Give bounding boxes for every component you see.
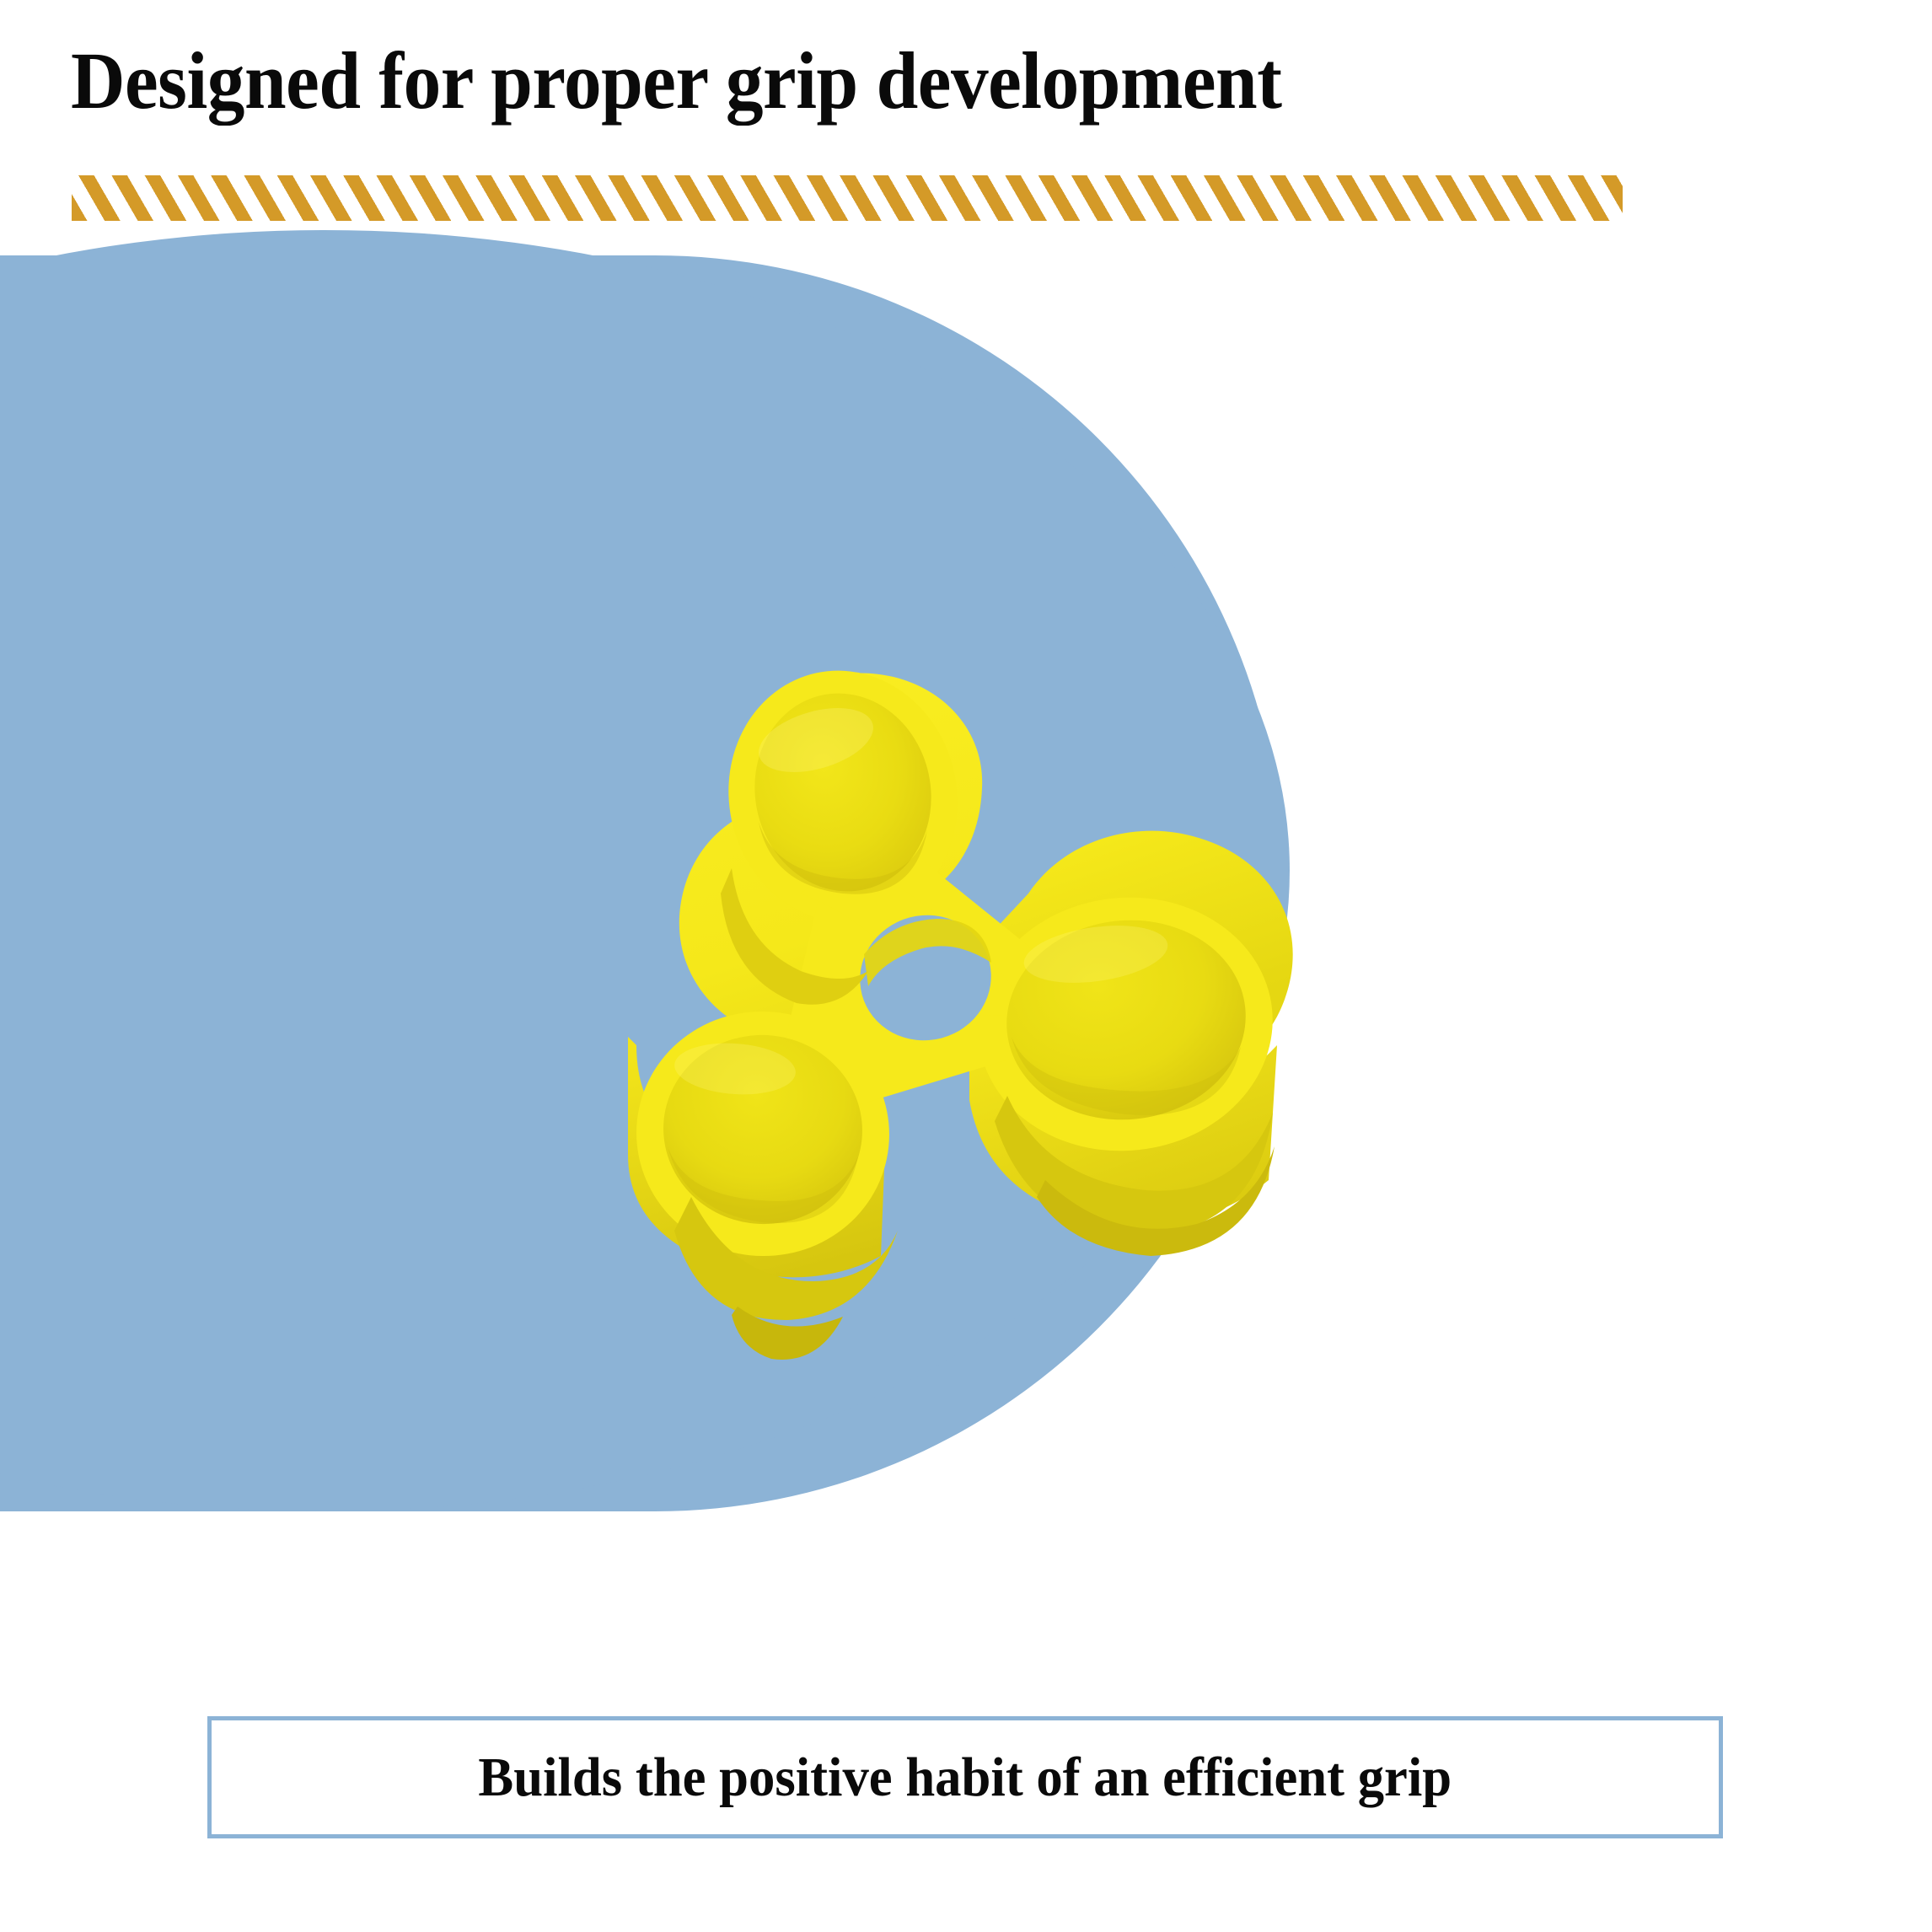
caption-box: Builds the positive habit of an efficien… <box>207 1716 1723 1838</box>
caption-text: Builds the positive habit of an efficien… <box>479 1746 1452 1810</box>
infographic-canvas: Designed for proper grip development <box>0 0 1932 1932</box>
page-title: Designed for proper grip development <box>71 40 1560 121</box>
product-image <box>590 641 1332 1382</box>
diagonal-stripe-divider <box>72 175 1623 221</box>
